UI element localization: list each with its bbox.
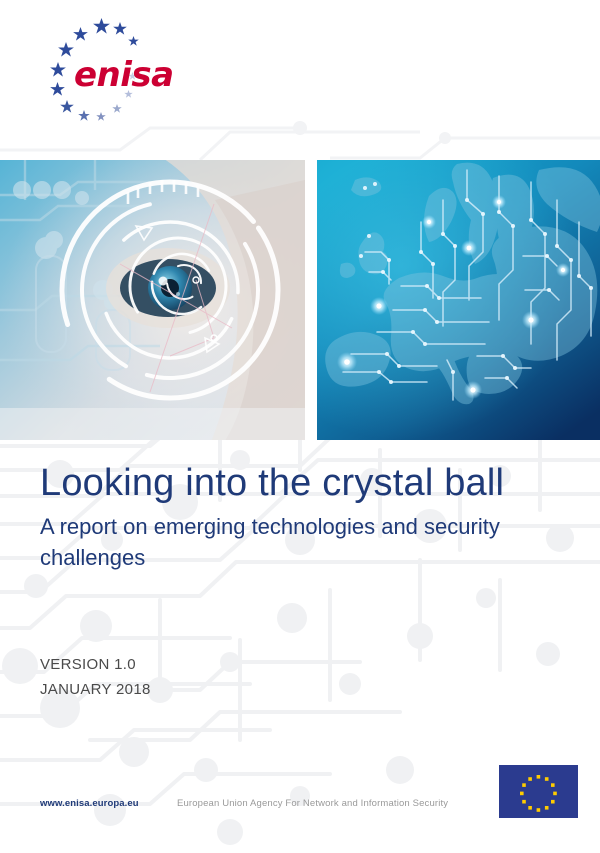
title-block: Looking into the crystal ball A report o… xyxy=(40,462,570,574)
enisa-logo: enisa xyxy=(38,14,188,134)
hero-image-eye xyxy=(0,160,305,440)
footer-agency-name: European Union Agency For Network and In… xyxy=(177,798,448,809)
page-subtitle: A report on emerging technologies and se… xyxy=(40,511,530,575)
version-label: VERSION 1.0 xyxy=(40,653,151,678)
date-label: JANUARY 2018 xyxy=(40,678,151,703)
footer-website-link[interactable]: www.enisa.europa.eu xyxy=(40,798,139,809)
cover-image-band xyxy=(0,160,600,440)
page-title: Looking into the crystal ball xyxy=(40,462,570,505)
version-block: VERSION 1.0 JANUARY 2018 xyxy=(40,653,151,703)
enisa-wordmark: enisa xyxy=(74,58,174,92)
page-footer: www.enisa.europa.eu European Union Agenc… xyxy=(0,790,600,830)
eu-flag-icon xyxy=(499,765,578,818)
document-cover-page: enisa xyxy=(0,0,600,853)
hero-image-europe-circuit xyxy=(317,160,600,440)
